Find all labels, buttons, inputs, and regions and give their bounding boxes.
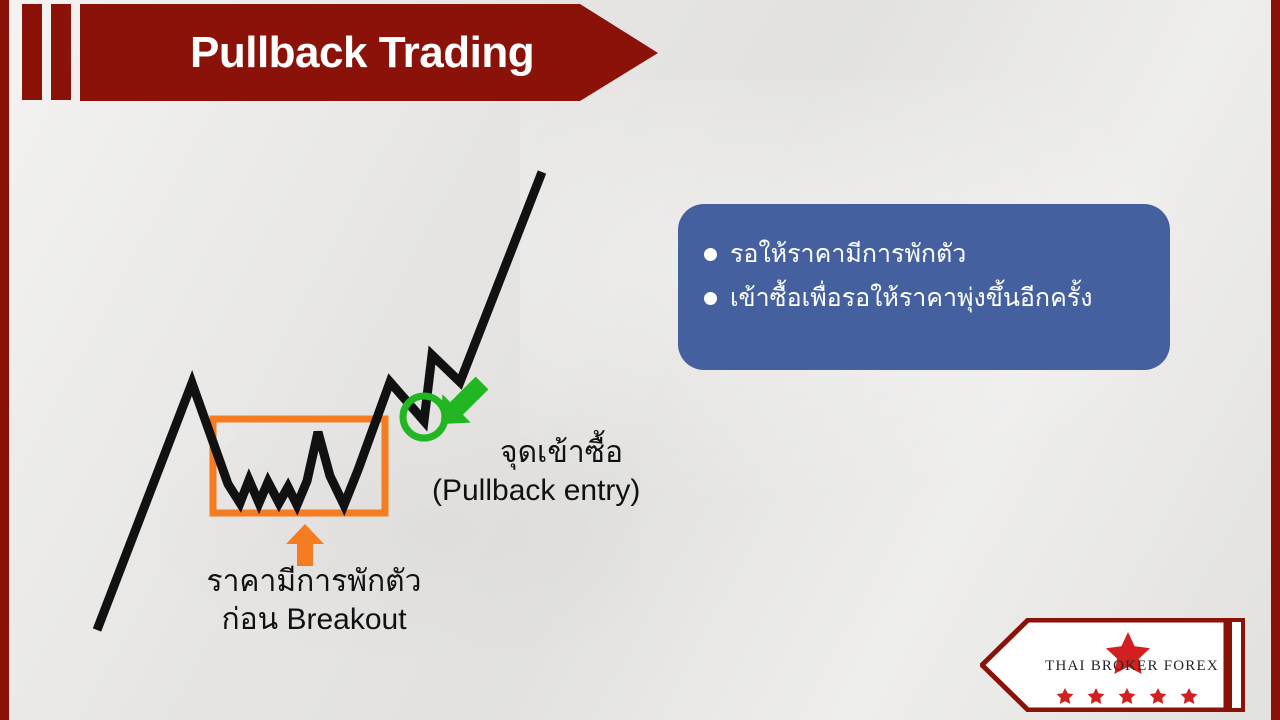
brand-logo: THAI BROKER FOREX — [980, 618, 1244, 712]
callout-bullet-text: เข้าซื้อเพื่อรอให้ราคาพุ่งขึ้นอีกครั้ง — [730, 280, 1092, 316]
entry-annotation-line1: จุดเข้าซื้อ — [432, 434, 640, 472]
logo-side-bar — [1228, 618, 1245, 712]
bullet-dot-icon — [704, 248, 717, 261]
callout-bullet-2: เข้าซื้อเพื่อรอให้ราคาพุ่งขึ้นอีกครั้ง — [704, 280, 1146, 316]
callout-box: รอให้ราคามีการพักตัว เข้าซื้อเพื่อรอให้ร… — [678, 204, 1170, 370]
callout-bullet-text: รอให้ราคามีการพักตัว — [730, 236, 966, 272]
consolidation-annotation: ราคามีการพักตัว ก่อน Breakout — [180, 563, 448, 640]
consolidation-annotation-line1: ราคามีการพักตัว — [180, 563, 448, 601]
slide-canvas: Pullback Trading รอให้ราคามีการพักตัว — [0, 0, 1280, 720]
consolidation-annotation-line2: ก่อน Breakout — [180, 601, 448, 639]
entry-annotation-line2: (Pullback entry) — [432, 472, 640, 510]
consolidation-arrow-icon — [286, 524, 324, 566]
logo-wordmark: THAI BROKER FOREX — [1028, 658, 1236, 675]
bullet-dot-icon — [704, 292, 717, 305]
callout-bullet-1: รอให้ราคามีการพักตัว — [704, 236, 1146, 272]
entry-annotation: จุดเข้าซื้อ (Pullback entry) — [432, 434, 640, 511]
